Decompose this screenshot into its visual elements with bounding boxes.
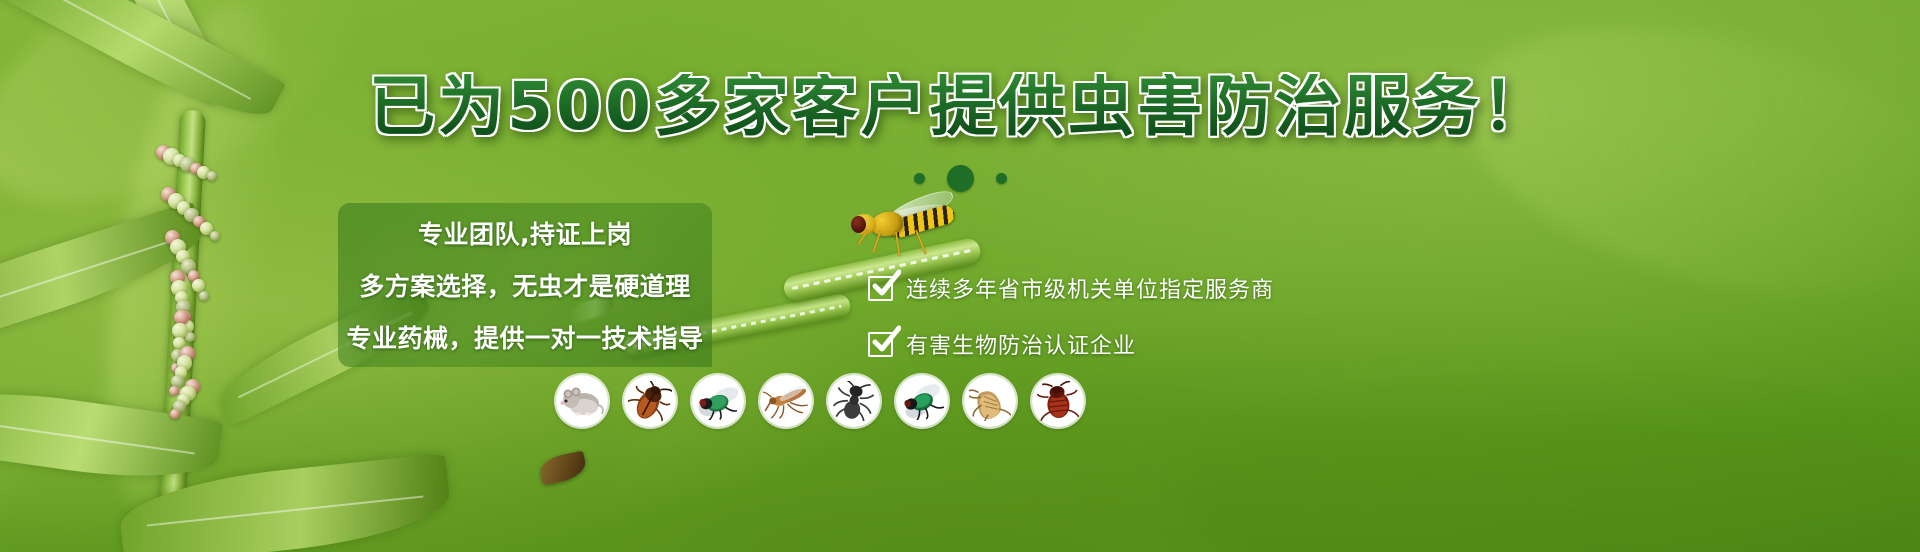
list-item: 有害生物防治认证企业	[868, 328, 1338, 360]
mouse-icon[interactable]	[556, 375, 608, 427]
seed-head-bud	[172, 323, 188, 339]
selling-points-text: 专业团队,持证上岗 多方案选择，无虫才是硬道理 专业药械，提供一对一技术指导	[338, 203, 712, 367]
selling-point-line-1: 专业团队,持证上岗	[418, 215, 632, 251]
decorative-dot-small-left	[914, 173, 925, 184]
decorative-dot-small-right	[996, 173, 1007, 184]
certification-label: 连续多年省市级机关单位指定服务商	[906, 272, 1274, 304]
selling-point-line-2: 多方案选择，无虫才是硬道理	[359, 267, 691, 303]
hoverfly-leg	[872, 232, 881, 254]
ant-icon[interactable]	[828, 375, 880, 427]
flea-icon[interactable]	[964, 375, 1016, 427]
hoverfly-eye	[851, 216, 866, 233]
hoverfly-illustration	[845, 196, 960, 258]
seed-head-bud	[170, 409, 180, 419]
bedbug-icon[interactable]	[1032, 375, 1084, 427]
decorative-dots	[0, 165, 1920, 192]
decorative-dot-large-center	[947, 165, 974, 192]
hoverfly-leg	[915, 230, 927, 255]
pest-control-hero-banner: 已为500多家客户提供虫害防治服务！ 专业团队,持证上岗 多方案选择，无虫才是硬…	[0, 0, 1920, 552]
cockroach-icon[interactable]	[624, 375, 676, 427]
checkbox-checked-icon	[868, 276, 893, 301]
certification-list: 连续多年省市级机关单位指定服务商 有害生物防治认证企业	[868, 272, 1338, 360]
pest-type-icon-row	[556, 375, 1084, 427]
selling-point-line-3: 专业药械，提供一对一技术指导	[346, 319, 703, 355]
seed-head-bud	[169, 386, 179, 396]
seed-head-bud	[210, 231, 220, 241]
page-title: 已为500多家客户提供虫害防治服务！	[0, 74, 1920, 140]
greenbottle-fly-icon[interactable]	[896, 375, 948, 427]
list-item: 连续多年省市级机关单位指定服务商	[868, 272, 1338, 304]
checkbox-checked-icon	[868, 332, 893, 357]
seed-head-bud	[199, 291, 209, 301]
housefly-icon[interactable]	[692, 375, 744, 427]
mosquito-icon[interactable]	[760, 375, 812, 427]
certification-label: 有害生物防治认证企业	[906, 328, 1136, 360]
